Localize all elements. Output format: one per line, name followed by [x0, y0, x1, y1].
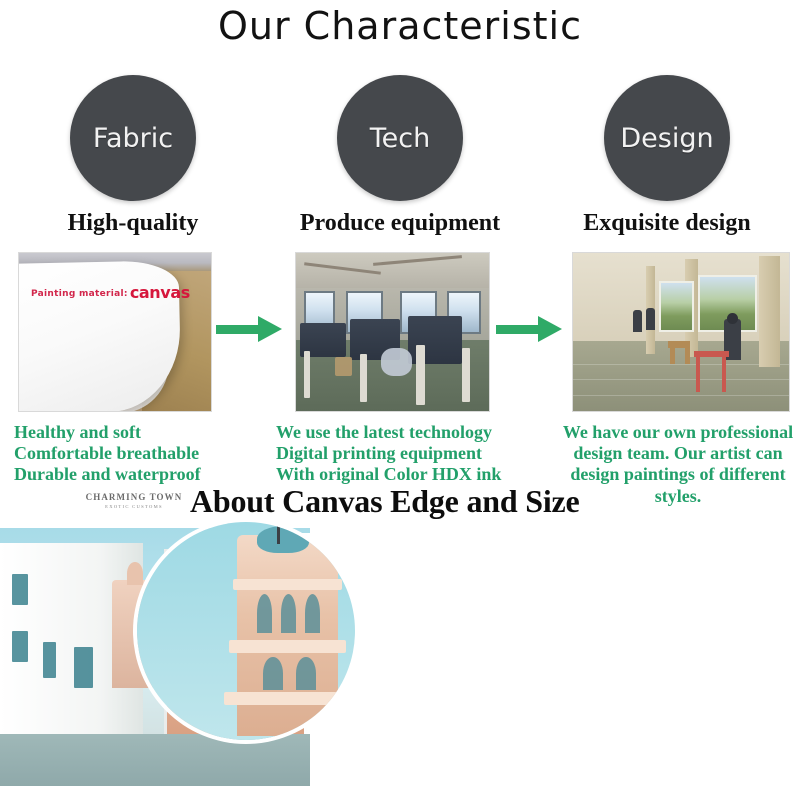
tower-arch [257, 594, 272, 633]
studio-scene [573, 253, 789, 411]
canvas-label-word: canvas [130, 283, 190, 302]
wooden-stool-leg [685, 341, 689, 363]
section-title-canvas-edge: About Canvas Edge and Size [190, 483, 650, 520]
feature-caption-design: Exquisite design [534, 210, 800, 237]
feature-circle-tech: Tech [337, 75, 463, 201]
artist-figure [646, 308, 655, 330]
feature-circle-design: Design [604, 75, 730, 201]
feature-item-design: Design Exquisite design [534, 75, 800, 237]
photo-row: Painting material:canvas [0, 252, 800, 412]
wall-painting [659, 281, 694, 332]
window [74, 647, 93, 688]
tower-arch [305, 594, 320, 633]
caption-line: We use the latest technology [276, 422, 546, 443]
tower-cornice [233, 579, 342, 590]
canvas-scene: Painting material:canvas [19, 253, 211, 411]
watermark-tagline: EXOTIC CUSTOMS [78, 504, 190, 509]
art-studio-photo [572, 252, 790, 412]
printing-workshop-photo [295, 252, 490, 412]
hall-pillar [759, 256, 781, 367]
arrow-head [258, 316, 282, 342]
floor-line [573, 364, 789, 365]
arrow-head [538, 316, 562, 342]
caption-line: Healthy and soft [14, 422, 276, 443]
feature-caption-fabric: High-quality [0, 210, 266, 237]
canvas-material-label: Painting material:canvas [31, 283, 203, 302]
feature-circle-label: Design [620, 123, 713, 154]
canvas-material-photo: Painting material:canvas [18, 252, 212, 412]
cobbled-street [0, 734, 310, 786]
tower-arch [281, 594, 296, 633]
watermark-brand-name: CHARMING TOWN [78, 492, 190, 502]
arrow-shaft [496, 325, 542, 334]
church-spire [127, 562, 143, 585]
page-title: Our Characteristic [0, 4, 800, 48]
feature-circle-label: Tech [370, 123, 430, 154]
machine-leg [416, 345, 426, 405]
tower-finial [277, 522, 280, 544]
carton-box [335, 357, 352, 376]
features-row: Fabric High-quality Tech Produce equipme… [0, 75, 800, 245]
tower-arch [263, 657, 283, 690]
right-arrow-icon [216, 316, 286, 342]
feature-description-fabric: Healthy and soft Comfortable breathable … [14, 422, 276, 486]
feature-circle-fabric: Fabric [70, 75, 196, 201]
tower-closeup-inset [137, 522, 355, 740]
tower-arch [296, 657, 316, 690]
paint-table-leg [696, 351, 700, 392]
canvas-roll [381, 348, 412, 376]
bottom-section: We give each canvas painting 3 to 5 cm e… [0, 528, 800, 800]
wooden-stool-leg [670, 341, 674, 363]
arrow-shaft [216, 325, 262, 334]
infographic-page: Our Characteristic Fabric High-quality T… [0, 0, 800, 800]
feature-item-fabric: Fabric High-quality [0, 75, 266, 237]
window [12, 574, 28, 605]
caption-line: Digital printing equipment [276, 443, 546, 464]
machine-leg [304, 351, 310, 398]
bell-tower [237, 535, 337, 736]
feature-circle-label: Fabric [93, 123, 173, 154]
tower-cornice [224, 692, 350, 705]
tower-dome [257, 526, 309, 552]
canvas-label-prefix: Painting material: [31, 289, 128, 299]
workshop-scene [296, 253, 489, 411]
studio-floor [573, 341, 789, 411]
brand-watermark: CHARMING TOWN EXOTIC CUSTOMS [78, 492, 190, 509]
caption-line: Comfortable breathable [14, 443, 276, 464]
feature-item-tech: Tech Produce equipment [267, 75, 533, 237]
floor-line [573, 379, 789, 380]
floor-line [573, 395, 789, 396]
feature-caption-tech: Produce equipment [267, 210, 533, 237]
right-arrow-icon [496, 316, 566, 342]
tower-cornice [229, 640, 347, 653]
paint-table-leg [722, 351, 726, 392]
window [12, 631, 28, 662]
machine-leg [360, 354, 368, 401]
machine-leg [462, 348, 470, 402]
window [43, 642, 55, 678]
artist-figure [633, 310, 642, 332]
feature-description-tech: We use the latest technology Digital pri… [276, 422, 546, 486]
